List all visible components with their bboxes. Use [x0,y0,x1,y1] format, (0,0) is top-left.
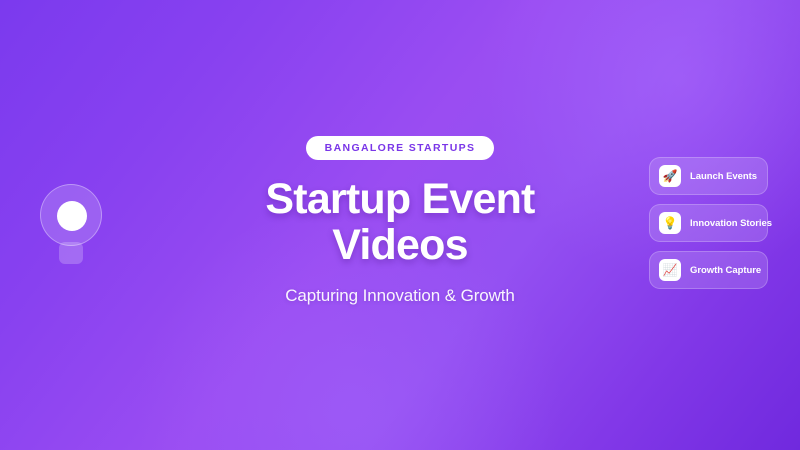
lightbulb-icon: 💡 [659,212,681,234]
category-badge: BANGALORE STARTUPS [306,136,495,160]
page-title-line-1: Startup Event [265,175,534,223]
feature-card-innovation-stories[interactable]: 💡 Innovation Stories [649,204,768,242]
feature-card-label: Innovation Stories [690,218,772,229]
rocket-icon: 🚀 [659,165,681,187]
chart-increasing-icon: 📈 [659,259,681,281]
page-subtitle: Capturing Innovation & Growth [285,286,515,306]
page-title-line-2: Videos [332,221,467,269]
feature-card-launch-events[interactable]: 🚀 Launch Events [649,157,768,195]
feature-card-list: 🚀 Launch Events 💡 Innovation Stories 📈 G… [649,157,768,289]
slide-canvas: BANGALORE STARTUPS Startup Event Videos … [0,0,800,450]
feature-card-label: Launch Events [690,171,757,182]
feature-card-growth-capture[interactable]: 📈 Growth Capture [649,251,768,289]
page-title: Startup Event Videos [265,176,534,269]
feature-card-label: Growth Capture [690,265,761,276]
